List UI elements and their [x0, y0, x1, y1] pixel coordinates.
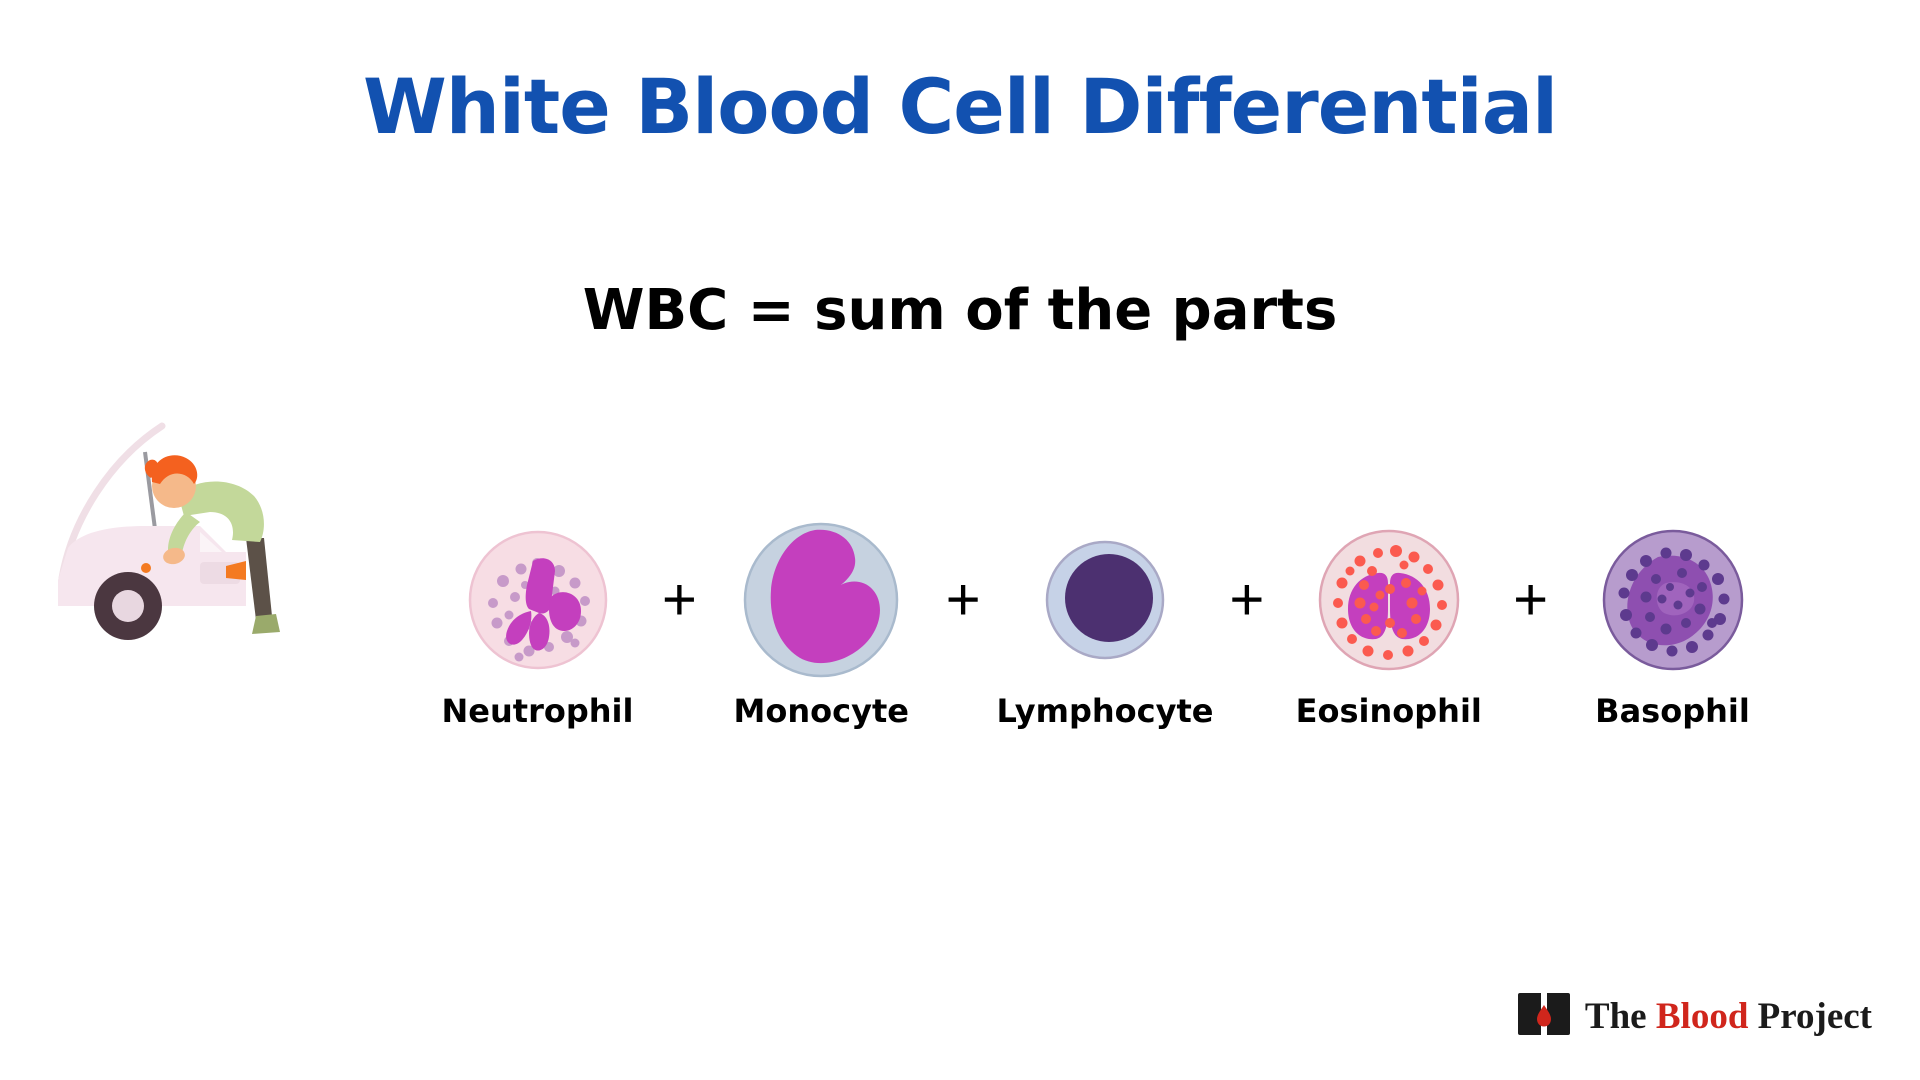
cell-label-monocyte: Monocyte: [734, 692, 909, 730]
cell-label-neutrophil: Neutrophil: [442, 692, 634, 730]
neutrophil-cell-icon: [463, 520, 613, 680]
cell-group-basophil: Basophil: [1575, 520, 1770, 730]
open-book-with-blood-drop-icon: [1517, 991, 1571, 1042]
subtitle-equation-text: WBC = sum of the parts: [0, 278, 1920, 343]
logo-word-the: The: [1585, 996, 1647, 1037]
cell-group-neutrophil: Neutrophil: [440, 520, 635, 730]
plus-operator-1: +: [658, 520, 700, 680]
lymphocyte-cell-icon: [1043, 520, 1167, 680]
wbc-equation-row: Neutrophil + Monocyte + Lymphocyte +: [440, 520, 1770, 750]
cell-group-eosinophil: Eosinophil: [1291, 520, 1486, 730]
plus-operator-4: +: [1510, 520, 1552, 680]
plus-operator-2: +: [942, 520, 984, 680]
cell-label-lymphocyte: Lymphocyte: [997, 692, 1214, 730]
logo-word-blood: Blood: [1656, 996, 1749, 1037]
cell-group-monocyte: Monocyte: [724, 520, 919, 730]
monocyte-cell-icon: [741, 520, 901, 680]
cell-label-basophil: Basophil: [1595, 692, 1750, 730]
site-logo[interactable]: The Blood Project: [1517, 991, 1872, 1042]
cell-group-lymphocyte: Lymphocyte: [1008, 520, 1203, 730]
mechanic-looking-under-car-hood-illustration: [50, 420, 350, 650]
plus-operator-3: +: [1226, 520, 1268, 680]
page-title: White Blood Cell Differential: [0, 62, 1920, 151]
cell-label-eosinophil: Eosinophil: [1296, 692, 1482, 730]
basophil-cell-icon: [1600, 520, 1746, 680]
logo-wordmark: The Blood Project: [1585, 995, 1872, 1038]
logo-word-project: Project: [1758, 996, 1872, 1037]
eosinophil-cell-icon: [1316, 520, 1462, 680]
